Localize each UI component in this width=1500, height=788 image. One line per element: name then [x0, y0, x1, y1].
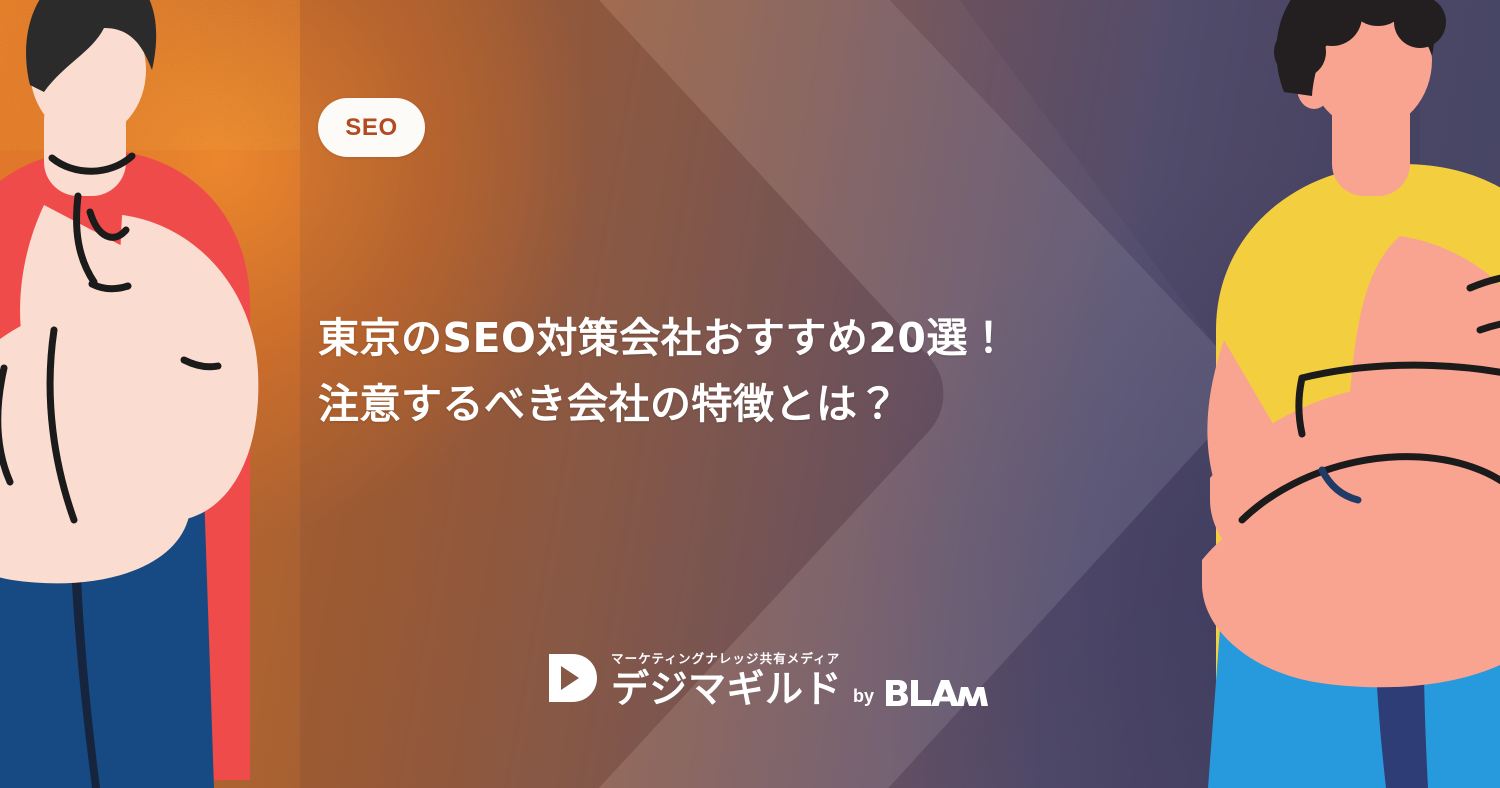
category-badge-label: SEO: [345, 114, 397, 142]
page-title: 東京のSEO対策会社おすすめ20選！ 注意するべき会社の特徴とは？: [318, 305, 1078, 438]
logo-name: デジマギルド: [611, 670, 842, 708]
illustration-woman-arms-crossed: [0, 0, 282, 788]
article-hero-banner: SEO 東京のSEO対策会社おすすめ20選！ 注意するべき会社の特徴とは？ マー…: [0, 0, 1500, 788]
category-badge[interactable]: SEO: [318, 98, 425, 157]
page-title-line-2: 注意するべき会社の特徴とは？: [318, 371, 1078, 437]
logo-by-label: by: [853, 687, 874, 705]
blam-wordmark-icon: [885, 679, 993, 707]
page-title-line-1: 東京のSEO対策会社おすすめ20選！: [318, 305, 1078, 371]
site-logo[interactable]: マーケティングナレッジ共有メディア デジマギルド by: [546, 648, 993, 708]
logo-text-column: マーケティングナレッジ共有メディア デジマギルド by: [611, 648, 993, 708]
logo-tagline: マーケティングナレッジ共有メディア: [611, 648, 993, 667]
illustration-man-arms-crossed: [1180, 0, 1500, 788]
play-arrow-d-mark-icon: [546, 652, 598, 704]
logo-name-row: デジマギルド by: [611, 670, 993, 708]
